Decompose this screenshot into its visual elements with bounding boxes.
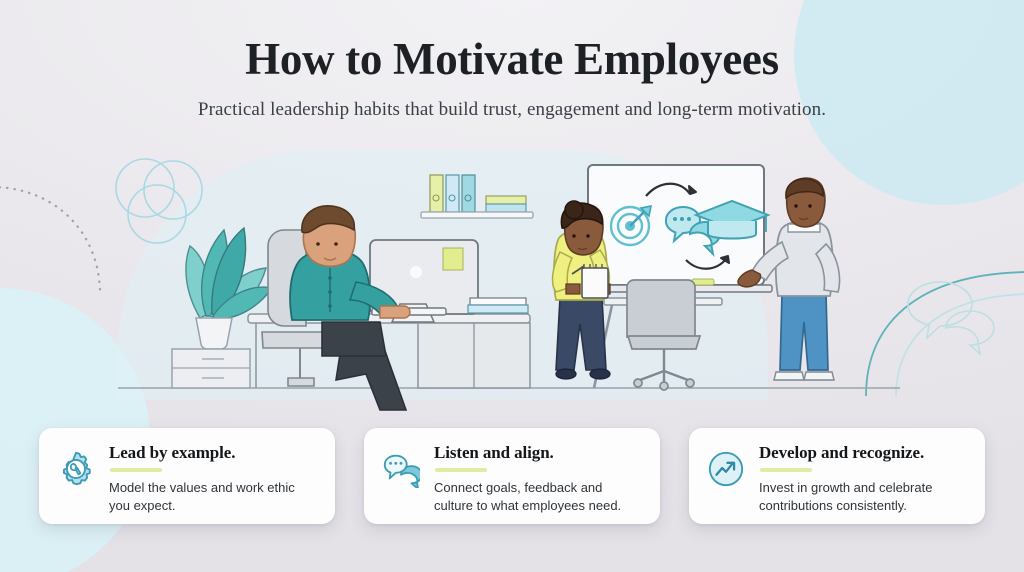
tip-card-title: Lead by example.	[109, 444, 319, 463]
filing-cabinet	[172, 349, 250, 388]
speech-bubbles-icon	[382, 450, 424, 493]
header: How to Motivate Employees Practical lead…	[0, 0, 1024, 121]
tip-card-title: Develop and recognize.	[759, 444, 969, 463]
growth-arrow-circle-icon	[707, 450, 749, 493]
tip-card-title: Listen and align.	[434, 444, 644, 463]
notepad	[582, 264, 608, 298]
hand	[566, 284, 580, 294]
books-stack	[468, 298, 528, 313]
potted-plant	[186, 228, 272, 349]
shoe	[590, 369, 610, 379]
trousers	[556, 298, 606, 370]
page-title: How to Motivate Employees	[0, 37, 1024, 82]
tip-card-text: Invest in growth and celebrate contribut…	[759, 479, 969, 515]
tip-card-body: Lead by example. Model the values and wo…	[109, 444, 319, 515]
sneaker	[804, 372, 834, 380]
hair-bun	[565, 201, 583, 219]
office-chair-center	[627, 280, 700, 390]
sticky-note	[443, 248, 463, 270]
tip-card-text: Connect goals, feedback and culture to w…	[434, 479, 644, 515]
tip-card-body: Listen and align. Connect goals, feedbac…	[434, 444, 644, 515]
jeans	[780, 294, 828, 370]
title-underline-accent	[760, 468, 812, 472]
tips-card-row: Lead by example. Model the values and wo…	[0, 428, 1024, 528]
title-underline-accent	[435, 468, 487, 472]
sneaker	[774, 372, 804, 380]
shelf-with-binders	[421, 175, 533, 218]
tip-card-body: Develop and recognize. Invest in growth …	[759, 444, 969, 515]
infographic-canvas: How to Motivate Employees Practical lead…	[0, 0, 1024, 572]
tip-card-develop-and-recognize[interactable]: Develop and recognize. Invest in growth …	[689, 428, 985, 524]
shoe	[556, 369, 576, 379]
page-subtitle: Practical leadership habits that build t…	[0, 99, 1024, 121]
gear-wrench-icon	[57, 450, 99, 493]
tip-card-listen-and-align[interactable]: Listen and align. Connect goals, feedbac…	[364, 428, 660, 524]
title-underline-accent	[110, 468, 162, 472]
tip-card-lead-by-example[interactable]: Lead by example. Model the values and wo…	[39, 428, 335, 524]
legs	[336, 348, 406, 410]
office-illustration	[0, 118, 1024, 418]
person-woman	[553, 201, 610, 379]
tip-card-text: Model the values and work ethic you expe…	[109, 479, 319, 515]
hand	[380, 306, 410, 318]
